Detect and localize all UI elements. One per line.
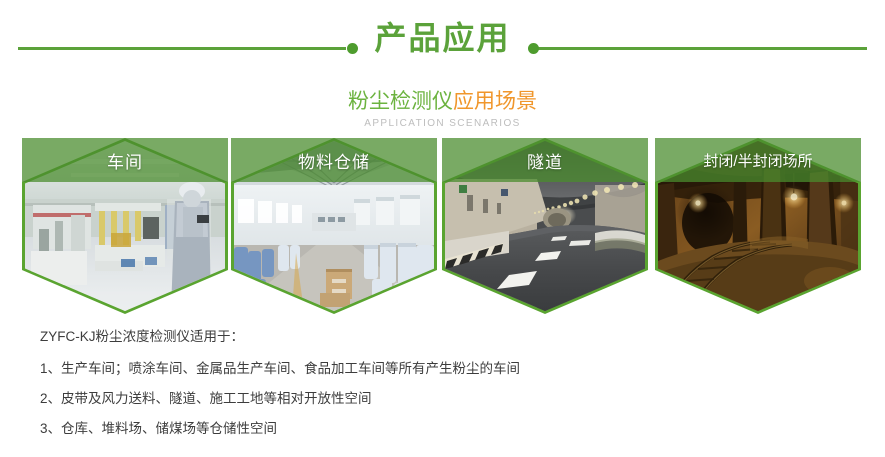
scenario-label-warehouse: 物料仓储 — [231, 138, 437, 182]
scenario-card-warehouse[interactable]: 物料仓储 — [231, 138, 437, 314]
page-header: 产品应用 — [0, 0, 885, 80]
page-title: 产品应用 — [0, 18, 885, 58]
description-item: 1、生产车间；喷涂车间、金属品生产车间、食品加工车间等所有产生粉尘的车间 — [40, 354, 840, 384]
scenario-label-workshop: 车间 — [22, 138, 228, 182]
scenario-card-tunnel[interactable]: 隧道 — [442, 138, 648, 314]
subtitle-main-orange: 应用场景 — [453, 90, 537, 113]
subtitle-main: 粉尘检测仪应用场景 — [0, 88, 885, 115]
description-intro: ZYFC-KJ粉尘浓度检测仪适用于： — [40, 322, 840, 352]
scenario-label-tunnel: 隧道 — [442, 138, 648, 182]
scenario-label-enclosed: 封闭/半封闭场所 — [655, 138, 861, 182]
scenario-card-enclosed[interactable]: 封闭/半封闭场所 — [655, 138, 861, 314]
subtitle-main-green: 粉尘检测仪 — [348, 90, 453, 113]
subtitle-english: APPLICATION SCENARIOS — [0, 117, 885, 131]
description-item: 2、皮带及风力送料、隧道、施工工地等相对开放性空间 — [40, 384, 840, 414]
scenario-card-workshop[interactable]: 车间 — [22, 138, 228, 314]
description-block: ZYFC-KJ粉尘浓度检测仪适用于： 1、生产车间；喷涂车间、金属品生产车间、食… — [40, 322, 840, 444]
description-item: 3、仓库、堆料场、储煤场等仓储性空间 — [40, 414, 840, 444]
scenario-hex-row: 车间 — [0, 138, 885, 316]
section-subtitle: 粉尘检测仪应用场景 APPLICATION SCENARIOS — [0, 88, 885, 131]
